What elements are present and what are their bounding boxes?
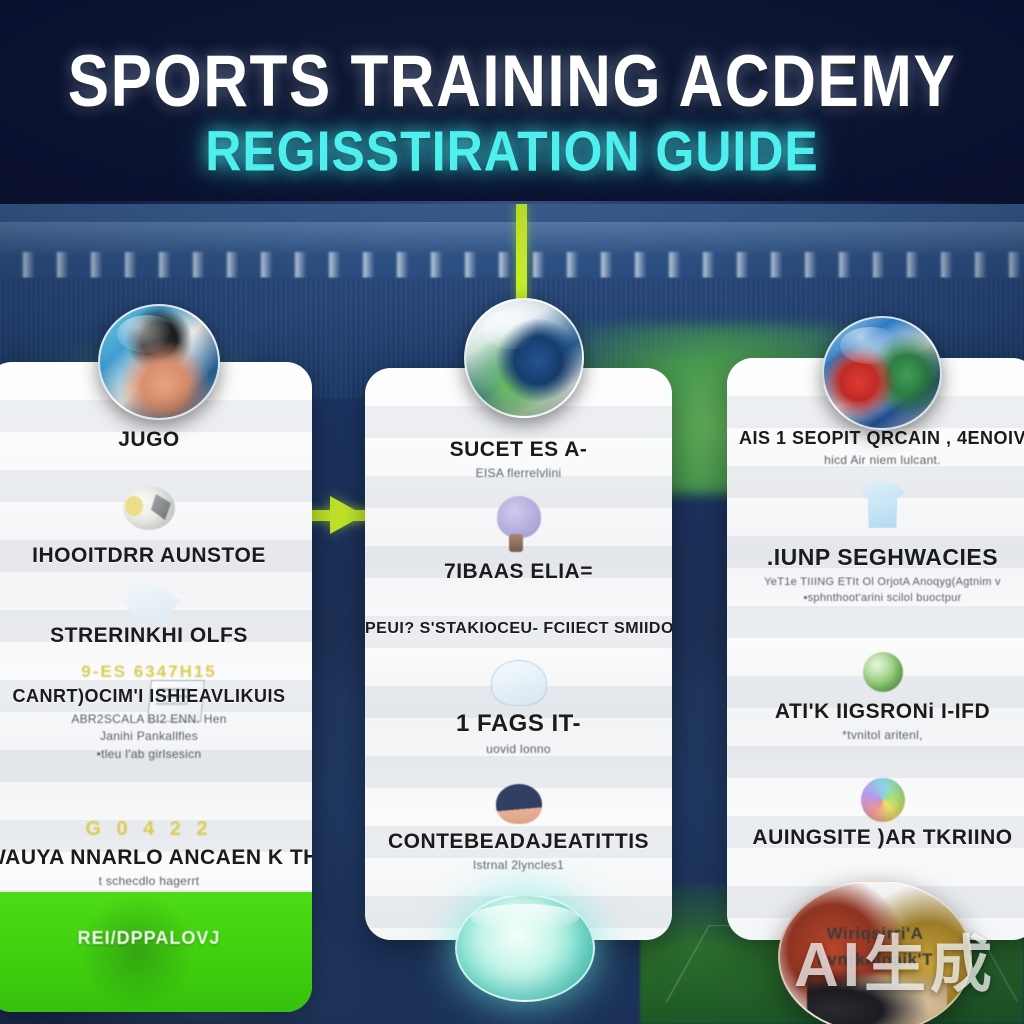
floodlight-icon [0, 252, 1024, 278]
card-1-row-5[interactable]: WAUYA NNARLO ANCAEN K THU. t schecdlo ha… [0, 846, 312, 888]
page-title: SPORTS TRAINING ACDEMY [0, 40, 1024, 124]
card-1-content: JUGO IHOOITDRR AUNSTOE STRERINKHI OLFS 9… [0, 362, 312, 1012]
card-2-row-2[interactable]: 7IBAAS ELIA= [365, 560, 672, 584]
map-paper-icon [118, 580, 180, 628]
footer-scribble-icon [77, 896, 197, 1006]
player-head-icon [496, 784, 542, 824]
card-1-row-2[interactable]: IHOOITDRR AUNSTOE [0, 544, 312, 568]
card-1-row-1[interactable]: JUGO [0, 428, 312, 452]
card-3-content: AIS 1 SEOPIT QRCAIN , 4ENOIV hicd Air ni… [727, 358, 1024, 940]
card-1-row-4-sub: ABR2SCALA BI2 ENN. Hen Janihi Pankallfle… [0, 711, 312, 763]
card-2-row-4-sub: uovid lonno [365, 742, 672, 756]
purple-medal-icon [497, 496, 541, 538]
soccer-ball-athlete-icon [98, 304, 220, 420]
fans-ball-icon: Wiriqsirri'A I vnrkninaik'T [778, 880, 972, 1024]
glowing-ball-icon [455, 894, 595, 1002]
card-2-row-2-title: 7IBAAS ELIA= [365, 560, 672, 584]
step-card-2[interactable]: SUCET ES A- EISA flerrelvlini 7IBAAS ELI… [365, 368, 672, 940]
card-1-row-4-scrawl: 9-ES 6347H15 [81, 662, 217, 682]
card-1-row-5-sub: t schecdlo hagerrt [0, 874, 312, 888]
poster-root: SPORTS TRAINING ACDEMY REGISSTIRATION GU… [0, 0, 1024, 1024]
step-card-1[interactable]: JUGO IHOOITDRR AUNSTOE STRERINKHI OLFS 9… [0, 362, 312, 1012]
card-2-row-1-title: SUCET ES A- [365, 438, 672, 462]
card-2-row-1[interactable]: SUCET ES A- EISA flerrelvlini [365, 438, 672, 480]
ball-gloss [840, 327, 900, 364]
card-1-footer-approve[interactable]: REI/DPPALOVJ [0, 892, 312, 1012]
card-1-row-3[interactable]: STRERINKHI OLFS [0, 624, 312, 648]
card-1-row-4[interactable]: CANRT)OCIM'I ISHIEAVLIKUIS ABR2SCALA BI2… [0, 686, 312, 763]
header-banner: SPORTS TRAINING ACDEMY REGISSTIRATION GU… [0, 0, 1024, 204]
ball-gloss [117, 315, 178, 353]
ball-gloss [482, 309, 542, 348]
cheering-fans-icon [807, 963, 948, 1024]
card-2-row-4[interactable]: 1 FAGS IT- uovid lonno [365, 710, 672, 756]
card-3-row-2-sub: YeT1e TIIING ETIt Ol OrjotA Anoqyg(Agtni… [727, 575, 1024, 607]
shirt-icon [860, 482, 906, 528]
card-1-row-3-title: STRERINKHI OLFS [0, 624, 312, 648]
card-2-row-1-sub: EISA flerrelvlini [365, 466, 672, 480]
card-3-row-1[interactable]: AIS 1 SEOPIT QRCAIN , 4ENOIV hicd Air ni… [727, 428, 1024, 467]
green-globe-icon [863, 652, 903, 692]
card-2-row-4-title: 1 FAGS IT- [365, 710, 672, 738]
card-1-row-4-title: CANRT)OCIM'I ISHIEAVLIKUIS [0, 686, 312, 707]
card-3-row-3-sub: *tvnitol aritenl, [727, 728, 1024, 742]
card-2-row-5-sub: Istrnal 2lyncles1 [365, 858, 672, 872]
card-3-row-4[interactable]: AUINGSITE )AR TKRIINO [727, 826, 1024, 850]
whistle-ball-icon [123, 486, 175, 530]
helmet-icon [491, 660, 547, 706]
card-3-row-3-title: ATI'K IIGSRONi I-IFD [727, 700, 1024, 724]
card-3-row-1-title: AIS 1 SEOPIT QRCAIN , 4ENOIV [727, 428, 1024, 449]
fans-ball-text-line1: Wiriqsirri'A [827, 924, 924, 943]
card-1-row-1-title: JUGO [0, 428, 312, 452]
card-1-row-5-scrawl: G 0 4 2 2 [85, 818, 212, 841]
step-card-3[interactable]: AIS 1 SEOPIT QRCAIN , 4ENOIV hicd Air ni… [727, 358, 1024, 940]
card-1-row-5-title: WAUYA NNARLO ANCAEN K THU. [0, 846, 312, 870]
card-2-content: SUCET ES A- EISA flerrelvlini 7IBAAS ELI… [365, 368, 672, 940]
page-subtitle: REGISSTIRATION GUIDE [0, 118, 1024, 184]
card-1-row-2-title: IHOOITDRR AUNSTOE [0, 544, 312, 568]
card-3-row-4-title: AUINGSITE )AR TKRIINO [727, 826, 1024, 850]
soccer-ball-colorful-icon [822, 316, 942, 430]
card-3-row-2-title: .IUNP SEGHWACIES [727, 544, 1024, 571]
card-2-row-5[interactable]: CONTEBEADAJEATITTIS Istrnal 2lyncles1 [365, 830, 672, 872]
soccer-ball-stadium-icon [464, 298, 584, 418]
card-3-row-3[interactable]: ATI'K IIGSRONi I-IFD *tvnitol aritenl, [727, 700, 1024, 742]
card-1-footer-label: REI/DPPALOVJ [0, 928, 312, 949]
right-arrow-icon [330, 496, 364, 534]
card-2-row-5-title: CONTEBEADAJEATITTIS [365, 830, 672, 854]
card-3-row-2[interactable]: .IUNP SEGHWACIES YeT1e TIIING ETIt Ol Or… [727, 544, 1024, 607]
stadium-roof [0, 222, 1024, 256]
card-3-row-1-sub: hicd Air niem lulcant. [727, 453, 1024, 467]
card-2-row-3[interactable]: PEUI? S'STAKIOCEU- FCIIECT SMIIDOICTSI- [365, 620, 672, 638]
rainbow-globe-icon [861, 778, 905, 822]
card-2-row-3-title: PEUI? S'STAKIOCEU- FCIIECT SMIIDOICTSI- [365, 620, 672, 638]
